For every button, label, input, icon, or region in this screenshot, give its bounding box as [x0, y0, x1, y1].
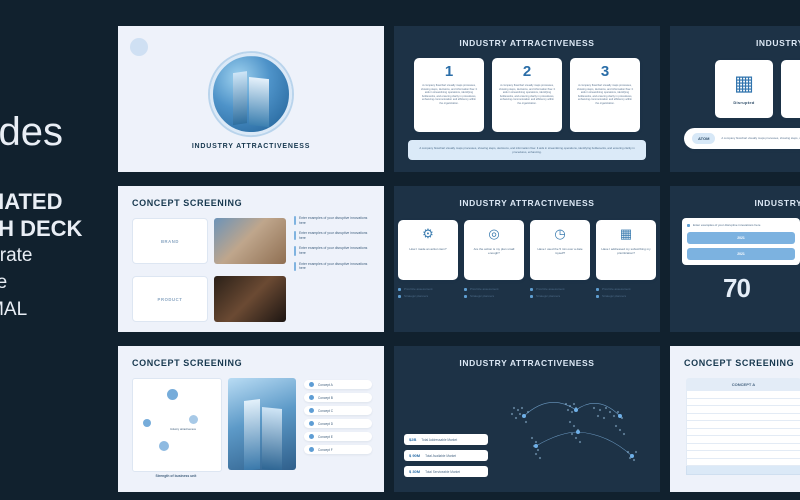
footer-text: Prioritize assessment	[536, 287, 565, 291]
note-bar: A company flowchart visually maps proces…	[408, 140, 646, 160]
column-row: Enter examples of your disruptive innova…	[682, 218, 800, 265]
legend-item[interactable]: Concept A	[304, 380, 372, 389]
pill-text: A company flowchart visually maps proces…	[721, 137, 800, 141]
card-number: 2	[498, 64, 556, 80]
pill-note-bar: ATOM A company flowchart visually maps p…	[684, 128, 800, 149]
slide-market-map[interactable]: INDUSTRY ATTRACTIVENESS	[394, 346, 660, 492]
column-card[interactable]: Enter examples of your disruptive innova…	[682, 218, 800, 265]
slide-matrix[interactable]: CONCEPT SCREENING Industry attractivenes…	[118, 346, 384, 492]
legend-label: Concept C	[318, 409, 333, 413]
year-button-secondary[interactable]: 2021	[687, 248, 795, 260]
market-value: $ 90M	[409, 453, 420, 458]
slide-title: INDUSTRY ATTRACTIVENESS	[394, 198, 660, 208]
cover-caption: INDUSTRY ATTRACTIVENESS	[118, 143, 384, 150]
slide-icon-cards[interactable]: INDUSTRY ATTRACT ▦ Disrupted ◍ Google ▥ …	[670, 26, 800, 172]
question-footer-row: Prioritize assessment Strategic planners…	[394, 287, 660, 301]
legend-dot-icon	[309, 447, 314, 452]
concept-box-brand[interactable]: BRAND	[132, 218, 208, 264]
slide-title: INDUSTRY ATTRACT	[670, 38, 800, 48]
footer-text: Strategic planners	[602, 294, 626, 298]
table-summary-row	[686, 466, 800, 475]
bullet-text: Enter examples of your disruptive innova…	[299, 216, 374, 225]
bullet-square-icon	[687, 224, 690, 227]
question-card[interactable]: ⚙ How I made an action item?	[398, 220, 458, 280]
slide-compare-table[interactable]: CONCEPT SCREENING CONCEPT A	[670, 346, 800, 492]
slide-title: INDUSTRY ATTRACTI	[670, 198, 800, 208]
market-row[interactable]: $ 30M Total Serviceable Market	[404, 466, 488, 477]
matrix-x-axis-label: Strength of business unit	[132, 474, 220, 478]
tower-illustration	[210, 53, 292, 135]
matrix-legend: Concept A Concept B Concept C Concept D …	[304, 380, 372, 458]
footer-text: Prioritize assessment	[404, 287, 433, 291]
question-footer: Prioritize assessment Strategic planners	[530, 287, 590, 301]
legend-dot-icon	[309, 382, 314, 387]
legend-label: Concept A	[318, 383, 333, 387]
bullet-item: Enter examples of your disruptive innova…	[294, 216, 374, 225]
legend-dot-icon	[309, 408, 314, 413]
numbered-card[interactable]: 1 A company flowchart visually maps proc…	[414, 58, 484, 132]
table-row[interactable]	[686, 451, 800, 459]
question-footer: Prioritize assessment Strategic planners	[398, 287, 458, 301]
legend-dot-icon	[309, 421, 314, 426]
concept-box-column: BRAND PRODUCT	[132, 218, 208, 322]
screenshot-root: 9 Slides ANIMATED PITCH DECK Corporate T…	[0, 0, 800, 500]
legend-dot-icon	[309, 434, 314, 439]
legend-label: Concept D	[318, 422, 333, 426]
table-row[interactable]	[686, 391, 800, 399]
bullet-square-icon	[464, 295, 467, 298]
market-label: Total Addressable Market	[421, 438, 457, 442]
gear-icon: ⚙	[422, 227, 434, 241]
icon-card-row: ▦ Disrupted ◍ Google ▥	[684, 60, 800, 118]
market-label: Total Serviceable Market	[425, 470, 460, 474]
promo-panel: 9 Slides ANIMATED PITCH DECK Corporate T…	[0, 0, 118, 500]
legend-dot-icon	[309, 395, 314, 400]
legend-label: Concept B	[318, 396, 333, 400]
column-text: Enter examples of your disruptive innova…	[693, 223, 760, 227]
market-legend: $2B Total Addressable Market $ 90M Total…	[404, 434, 488, 482]
promo-slides-word: Slides	[0, 110, 63, 155]
bullet-square-icon	[464, 288, 467, 291]
market-value: $ 30M	[409, 469, 420, 474]
icon-card[interactable]: ◍ Google	[781, 60, 800, 118]
table-row[interactable]	[686, 459, 800, 467]
matrix-bubble[interactable]	[143, 419, 151, 427]
slide-title: INDUSTRY ATTRACTIVENESS	[394, 38, 660, 48]
market-row[interactable]: $ 90M Total Available Market	[404, 450, 488, 461]
legend-item[interactable]: Concept C	[304, 406, 372, 415]
chart-icon: ▦	[620, 227, 632, 241]
slide-title: INDUSTRY ATTRACTIVENESS	[394, 358, 660, 368]
question-text: Have I addressed my subscribing my prior…	[596, 247, 656, 255]
slide-two-columns[interactable]: INDUSTRY ATTRACTI Enter examples of your…	[670, 186, 800, 332]
photo-thumbnail	[228, 378, 296, 470]
photo-thumbnail-bottom	[214, 276, 286, 322]
bullet-text: Enter examples of your disruptive innova…	[299, 246, 374, 255]
legend-item[interactable]: Concept D	[304, 419, 372, 428]
big-number-row: 70 20	[670, 273, 800, 304]
world-map	[490, 382, 654, 474]
icon-card[interactable]: ▦ Disrupted	[715, 60, 773, 118]
target-icon: ◎	[488, 227, 499, 241]
bullet-item: Enter examples of your disruptive innova…	[294, 246, 374, 255]
question-card[interactable]: ◷ Have I used the 5 min over a date myse…	[530, 220, 590, 280]
card-number: 3	[576, 64, 634, 80]
bullet-text: Enter examples of your disruptive innova…	[299, 231, 374, 240]
decoration-dot	[130, 38, 148, 56]
photo-thumbnail-top	[214, 218, 286, 264]
table-row[interactable]	[686, 421, 800, 429]
matrix-bubble[interactable]	[167, 389, 178, 400]
bullet-item: Enter examples of your disruptive innova…	[294, 231, 374, 240]
table-row[interactable]	[686, 414, 800, 422]
card-text: A company flowchart visually maps proces…	[498, 84, 556, 106]
pill-tag: ATOM	[692, 133, 715, 144]
footer-text: Strategic planners	[470, 294, 494, 298]
footer-text: Prioritize assessment	[602, 287, 631, 291]
matrix-bubble[interactable]	[159, 441, 169, 451]
bullet-square-icon	[596, 295, 599, 298]
bullet-square-icon	[398, 288, 401, 291]
table-row[interactable]	[686, 444, 800, 452]
slide-three-steps[interactable]: INDUSTRY ATTRACTIVENESS 1 A company flow…	[394, 26, 660, 172]
matrix-bubble[interactable]	[189, 415, 198, 424]
slide-title: CONCEPT SCREENING	[132, 198, 384, 208]
question-footer: Prioritize assessment Strategic planners	[596, 287, 656, 301]
legend-item[interactable]: Concept E	[304, 432, 372, 441]
numbered-card-row: 1 A company flowchart visually maps proc…	[394, 58, 660, 132]
table-column-a: CONCEPT A	[686, 378, 800, 475]
year-button[interactable]: 2021	[687, 232, 795, 244]
question-text: Are the action is my plan small enough?	[464, 247, 524, 255]
card-number: 1	[420, 64, 478, 80]
matrix-label: Industry attractiveness	[167, 427, 199, 432]
legend-label: Concept E	[318, 435, 333, 439]
question-text: Have I used the 5 min over a date myself…	[530, 247, 590, 255]
footer-text: Strategic planners	[404, 294, 428, 298]
market-value: $2B	[409, 437, 416, 442]
market-row[interactable]: $2B Total Addressable Market	[404, 434, 488, 445]
slide-cover[interactable]: INDUSTRY ATTRACTIVENESS	[118, 26, 384, 172]
table-row[interactable]	[686, 399, 800, 407]
question-footer: Prioritize assessment Strategic planners	[464, 287, 524, 301]
legend-label: Concept F	[318, 448, 333, 452]
bullet-text: Enter examples of your disruptive innova…	[299, 262, 374, 271]
bullet-square-icon	[596, 288, 599, 291]
footer-text: Prioritize assessment	[470, 287, 499, 291]
big-number: 70	[723, 273, 750, 304]
slide-title: CONCEPT SCREENING	[684, 358, 800, 368]
footer-text: Strategic planners	[536, 294, 560, 298]
slide-concept-screening-images[interactable]: CONCEPT SCREENING BRAND PRODUCT Enter ex…	[118, 186, 384, 332]
column-header: CONCEPT A	[686, 378, 800, 391]
numbered-card[interactable]: 3 A company flowchart visually maps proc…	[570, 58, 640, 132]
bullet-list: Enter examples of your disruptive innova…	[294, 216, 374, 277]
bullet-item: Enter examples of your disruptive innova…	[294, 262, 374, 271]
legend-item[interactable]: Concept B	[304, 393, 372, 402]
table-row[interactable]	[686, 406, 800, 414]
table-row[interactable]	[686, 429, 800, 437]
slide-questions[interactable]: INDUSTRY ATTRACTIVENESS ⚙ How I made an …	[394, 186, 660, 332]
bubble-matrix: Industry attractiveness	[132, 378, 222, 472]
numbered-card[interactable]: 2 A company flowchart visually maps proc…	[492, 58, 562, 132]
legend-item[interactable]: Concept F	[304, 445, 372, 454]
question-card[interactable]: ◎ Are the action is my plan small enough…	[464, 220, 524, 280]
slide-title: CONCEPT SCREENING	[132, 358, 384, 368]
world-map-svg	[490, 382, 654, 474]
bar-chart-icon: ▦	[734, 73, 754, 95]
icon-card-label: Disrupted	[733, 100, 754, 105]
table-row[interactable]	[686, 436, 800, 444]
card-text: A company flowchart visually maps proces…	[576, 84, 634, 106]
comparison-table: CONCEPT A CONCEPT B	[686, 378, 800, 475]
clock-icon: ◷	[554, 227, 565, 241]
concept-box-product[interactable]: PRODUCT	[132, 276, 208, 322]
building-icon	[210, 53, 292, 135]
question-card-row: ⚙ How I made an action item? ◎ Are the a…	[394, 220, 660, 280]
bullet-square-icon	[530, 288, 533, 291]
card-text: A company flowchart visually maps proces…	[420, 84, 478, 106]
question-card[interactable]: ▦ Have I addressed my subscribing my pri…	[596, 220, 656, 280]
bullet-square-icon	[398, 295, 401, 298]
market-label: Total Available Market	[425, 454, 456, 458]
bullet-square-icon	[530, 295, 533, 298]
question-text: How I made an action item?	[404, 247, 451, 251]
